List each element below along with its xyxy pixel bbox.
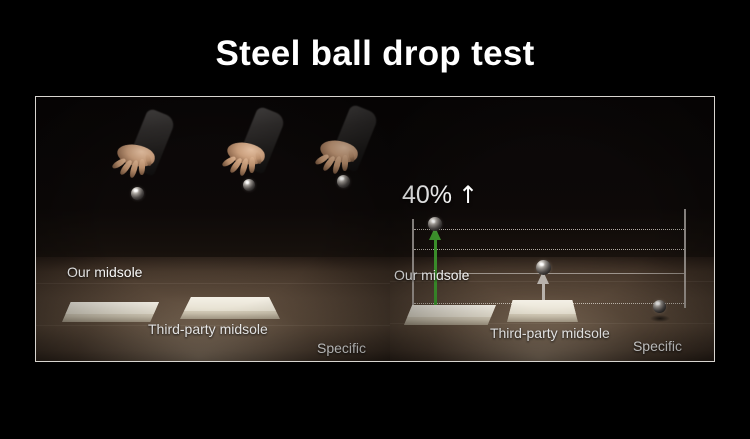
pad-top-face	[507, 300, 578, 314]
pad-top-face	[62, 302, 159, 314]
ball-right	[337, 175, 350, 188]
up-arrow-icon: ↑	[458, 181, 478, 209]
pad-top-face	[180, 297, 280, 311]
ball-left	[131, 187, 144, 200]
ball-center	[243, 179, 255, 191]
ball-highlight-icon	[246, 181, 249, 184]
label-third-party-midsole: Third-party midsole	[490, 325, 610, 341]
ball-specific	[653, 300, 666, 313]
ball-highlight-icon	[432, 220, 436, 223]
floor-seam-line	[36, 283, 390, 284]
page-title: Steel ball drop test	[0, 34, 750, 74]
ball-our-midsole	[428, 217, 442, 231]
reference-line-our-midsole	[414, 229, 684, 230]
pad-top-face	[404, 305, 496, 317]
label-our-midsole: Our midsole	[394, 267, 469, 283]
pad-third-party-midsole	[180, 297, 280, 319]
label-specific: Specific	[317, 340, 366, 356]
pad-our-midsole	[62, 302, 159, 322]
label-third-party-midsole: Third-party midsole	[148, 321, 268, 337]
panel-rebound-phase: 40%↑	[390, 97, 714, 361]
pad-third-party-midsole	[507, 300, 578, 322]
ball-highlight-icon	[134, 189, 137, 192]
guide-line-right	[684, 209, 686, 308]
rebound-percentage: 40%↑	[402, 181, 478, 210]
ball-highlight-icon	[340, 177, 343, 180]
ball-third-party	[536, 260, 551, 275]
ball-highlight-icon	[656, 302, 659, 305]
panel-drop-phase: Our midsole Third-party midsole Specific	[36, 97, 390, 361]
panel-container: Our midsole Third-party midsole Specific…	[36, 97, 714, 361]
figure-frame: Our midsole Third-party midsole Specific…	[35, 96, 715, 362]
reference-line-upper-secondary	[414, 249, 684, 250]
label-specific: Specific	[633, 338, 682, 354]
pad-our-midsole	[404, 305, 496, 325]
label-our-midsole: Our midsole	[67, 264, 142, 280]
ball-highlight-icon	[540, 263, 544, 266]
ball-specific-shadow	[650, 315, 670, 322]
rebound-percentage-value: 40%	[402, 181, 452, 209]
